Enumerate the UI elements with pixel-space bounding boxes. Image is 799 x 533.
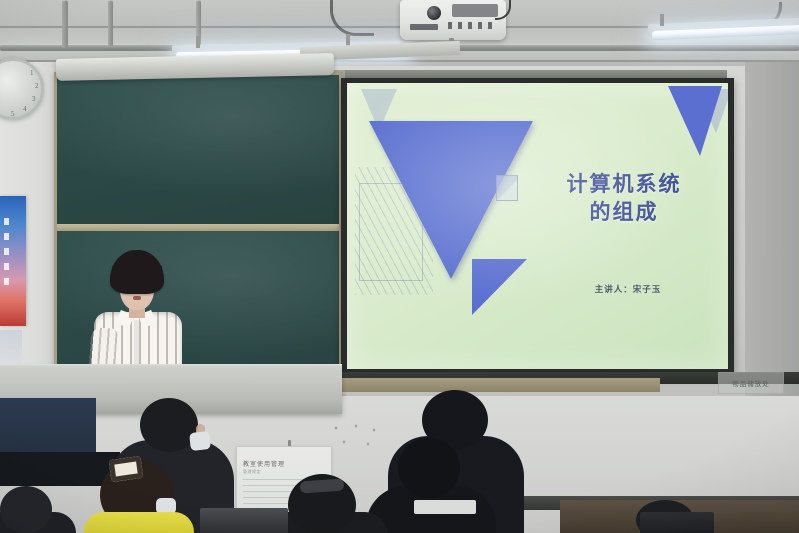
laptop bbox=[640, 512, 714, 533]
right-wall bbox=[745, 62, 799, 400]
hair-clip bbox=[109, 456, 144, 482]
wall-sign: 物品储放处 bbox=[718, 372, 784, 394]
clock-number: 4 bbox=[23, 105, 27, 113]
clock-number: 5 bbox=[11, 110, 15, 118]
slide-corner-triangle-icon bbox=[668, 86, 722, 156]
slide-small-triangle-icon bbox=[472, 259, 527, 315]
projector-lens-icon bbox=[427, 6, 441, 20]
slide-title: 计算机系统 的组成 bbox=[535, 171, 713, 226]
laptop bbox=[200, 508, 288, 533]
projector-buttons[interactable] bbox=[448, 22, 492, 29]
audience-member-head bbox=[0, 486, 52, 533]
presentation-slide: 计算机系统 的组成 主讲人：宋子玉 bbox=[347, 83, 728, 369]
wall-marks bbox=[330, 424, 400, 452]
slide-title-line-2: 的组成 bbox=[535, 199, 713, 227]
presenter-mouth bbox=[133, 296, 141, 300]
slide-presenter-credit: 主讲人：宋子玉 bbox=[543, 283, 713, 295]
projector-vent-panel bbox=[452, 4, 498, 17]
projector-vent bbox=[410, 24, 438, 30]
ceiling-pipe-vertical bbox=[108, 0, 113, 46]
blackboard-upper-panel bbox=[57, 75, 339, 225]
paper-sheet bbox=[414, 500, 476, 514]
wall-poster-title: 教室使用管理 bbox=[243, 459, 285, 468]
classroom-scene: 1 2 3 4 5 计算机系统 的组成 主讲人：宋子 bbox=[0, 0, 799, 533]
clock-number: 2 bbox=[35, 82, 39, 90]
platform-step bbox=[330, 378, 660, 392]
wall-poster-subtitle: 管理规定 bbox=[243, 469, 261, 475]
light-stem bbox=[660, 14, 664, 26]
audience-member-head bbox=[398, 438, 460, 498]
clock-number: 3 bbox=[32, 95, 36, 103]
audience-member-yellow-top bbox=[84, 512, 194, 533]
ceiling-pipe-vertical bbox=[62, 0, 68, 48]
clock-number: 1 bbox=[30, 69, 34, 77]
presenter bbox=[84, 250, 192, 380]
slide-grey-square-icon bbox=[496, 175, 518, 201]
face-mask bbox=[189, 431, 211, 451]
slide-title-line-1: 计算机系统 bbox=[535, 171, 713, 199]
projection-screen: 计算机系统 的组成 主讲人：宋子玉 bbox=[341, 78, 734, 374]
projector bbox=[400, 0, 506, 40]
light-stem bbox=[196, 36, 200, 48]
wall-banner-poster bbox=[0, 196, 26, 326]
